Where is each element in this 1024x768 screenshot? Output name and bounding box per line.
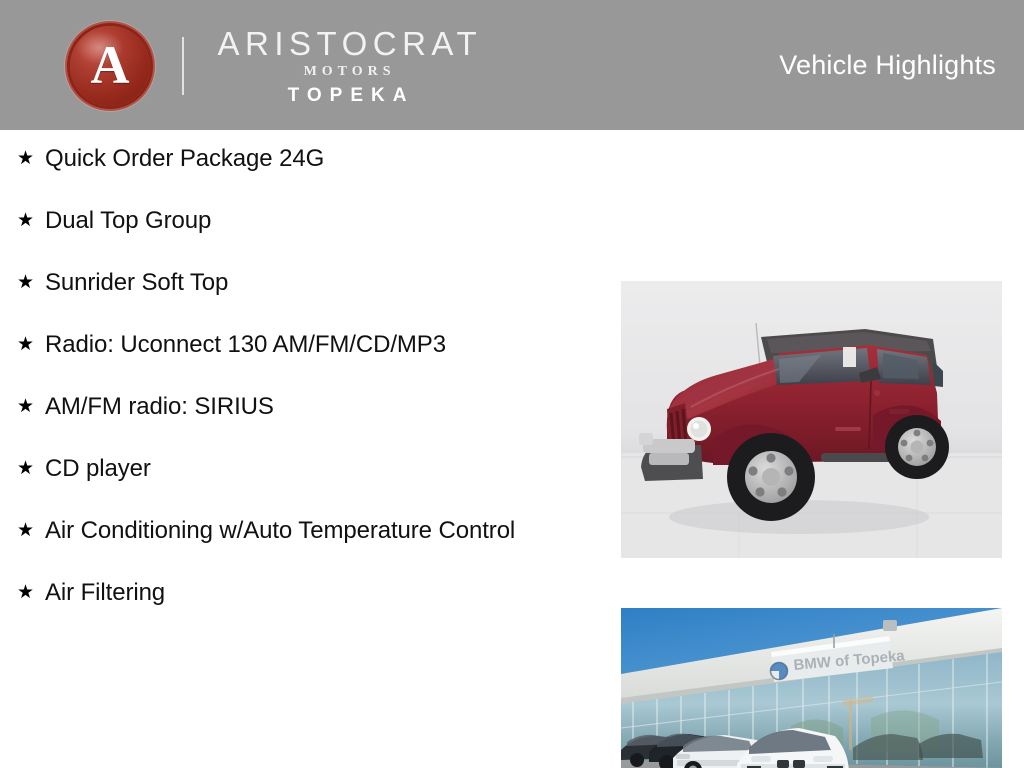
- star-icon: ★: [14, 204, 45, 237]
- list-item: ★ Air Conditioning w/Auto Temperature Co…: [14, 514, 584, 547]
- list-item-label: Dual Top Group: [45, 204, 584, 237]
- list-item: ★ Sunrider Soft Top: [14, 266, 584, 299]
- slide-body: ★ Quick Order Package 24G ★ Dual Top Gro…: [0, 130, 1024, 768]
- list-item-label: Radio: Uconnect 130 AM/FM/CD/MP3: [45, 328, 584, 361]
- list-item-label: Quick Order Package 24G: [45, 142, 584, 175]
- list-item-label: Air Conditioning w/Auto Temperature Cont…: [45, 514, 584, 547]
- slide-header: A ARISTOCRAT MOTORS TOPEKA Vehicle Highl…: [0, 0, 1024, 130]
- dealership-photo-graphic: BMW of Topeka: [621, 608, 1002, 768]
- list-item-label: Sunrider Soft Top: [45, 266, 584, 299]
- list-item-label: Air Filtering: [45, 576, 584, 609]
- star-icon: ★: [14, 514, 45, 547]
- list-item-label: CD player: [45, 452, 584, 485]
- brand-logo: A ARISTOCRAT MOTORS TOPEKA: [70, 26, 482, 106]
- vehicle-highlights-list: ★ Quick Order Package 24G ★ Dual Top Gro…: [14, 142, 584, 609]
- star-icon: ★: [14, 142, 45, 175]
- dealership-photo: BMW of Topeka: [621, 608, 1002, 768]
- star-icon: ★: [14, 452, 45, 485]
- vehicle-photo: [621, 281, 1002, 558]
- list-item: ★ Dual Top Group: [14, 204, 584, 237]
- list-item: ★ Quick Order Package 24G: [14, 142, 584, 175]
- star-icon: ★: [14, 328, 45, 361]
- vehicle-photo-graphic: [621, 281, 1002, 558]
- brand-wordmark: ARISTOCRAT MOTORS TOPEKA: [212, 25, 482, 107]
- list-item-label: AM/FM radio: SIRIUS: [45, 390, 584, 423]
- badge-letter: A: [91, 38, 130, 92]
- brand-name: ARISTOCRAT: [212, 27, 482, 62]
- star-icon: ★: [14, 576, 45, 609]
- aristocrat-badge-icon: A: [70, 26, 150, 106]
- list-item: ★ Radio: Uconnect 130 AM/FM/CD/MP3: [14, 328, 584, 361]
- brand-city: TOPEKA: [280, 85, 415, 107]
- page-title: Vehicle Highlights: [779, 50, 996, 81]
- list-item: ★ CD player: [14, 452, 584, 485]
- list-item: ★ Air Filtering: [14, 576, 584, 609]
- star-icon: ★: [14, 390, 45, 423]
- brand-divider: [182, 37, 184, 95]
- brand-subtitle: MOTORS: [299, 64, 396, 80]
- list-item: ★ AM/FM radio: SIRIUS: [14, 390, 584, 423]
- star-icon: ★: [14, 266, 45, 299]
- slide-vehicle-highlights: A ARISTOCRAT MOTORS TOPEKA Vehicle Highl…: [0, 0, 1024, 768]
